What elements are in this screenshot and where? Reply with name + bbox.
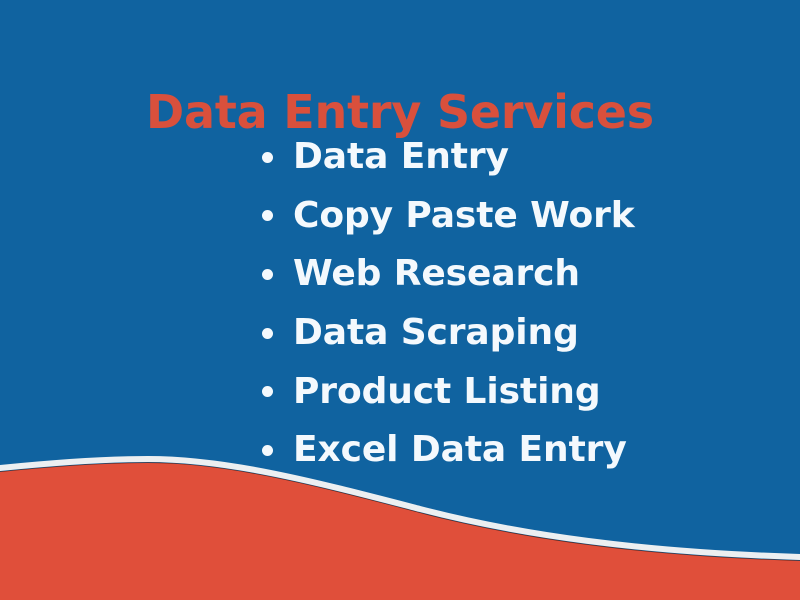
bullet-dot-icon — [262, 445, 273, 456]
list-item-label: Copy Paste Work — [293, 198, 635, 234]
bullet-dot-icon — [262, 269, 273, 280]
services-list: Data Entry Copy Paste Work Web Research … — [262, 128, 635, 480]
bullet-dot-icon — [262, 386, 273, 397]
bullet-dot-icon — [262, 328, 273, 339]
bullet-dot-icon — [262, 152, 273, 163]
list-item-label: Product Listing — [293, 374, 601, 410]
list-item-label: Excel Data Entry — [293, 432, 627, 468]
bullet-dot-icon — [262, 210, 273, 221]
list-item: Product Listing — [262, 362, 635, 421]
list-item-label: Web Research — [293, 256, 580, 292]
poster-canvas: Data Entry Services Data Entry Copy Past… — [0, 0, 800, 600]
poster-content: Data Entry Services Data Entry Copy Past… — [0, 0, 800, 600]
list-item: Web Research — [262, 245, 635, 304]
list-item: Data Entry — [262, 128, 635, 187]
list-item-label: Data Entry — [293, 139, 509, 175]
list-item: Data Scraping — [262, 304, 635, 363]
list-item-label: Data Scraping — [293, 315, 579, 351]
list-item: Excel Data Entry — [262, 421, 635, 480]
list-item: Copy Paste Work — [262, 187, 635, 246]
